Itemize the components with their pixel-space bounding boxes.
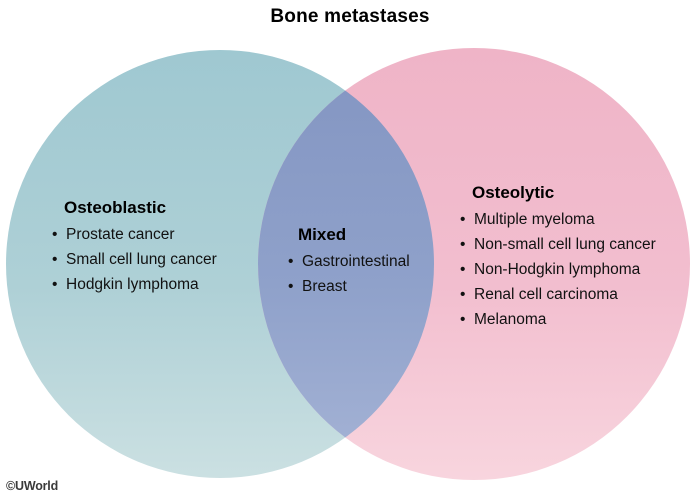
copyright-notice: ©UWorld [6, 479, 58, 493]
list-item-label: Breast [302, 278, 347, 295]
right-region-heading: Osteolytic [460, 183, 656, 203]
list-item: •Gastrointestinal [288, 249, 410, 274]
list-item-label: Hodgkin lymphoma [66, 276, 199, 293]
list-item-label: Renal cell carcinoma [474, 286, 618, 303]
bullet-icon: • [52, 272, 57, 297]
list-item: •Prostate cancer [52, 222, 217, 247]
center-region-heading: Mixed [288, 225, 410, 245]
list-item-label: Prostate cancer [66, 226, 175, 243]
list-item: •Non-Hodgkin lymphoma [460, 257, 656, 282]
bullet-icon: • [460, 282, 465, 307]
left-region-heading: Osteoblastic [52, 198, 217, 218]
bullet-icon: • [288, 274, 293, 299]
list-item-label: Melanoma [474, 311, 546, 328]
list-item: •Multiple myeloma [460, 207, 656, 232]
bullet-icon: • [288, 249, 293, 274]
bullet-icon: • [52, 222, 57, 247]
right-region-list: •Multiple myeloma •Non-small cell lung c… [460, 207, 656, 332]
list-item: •Breast [288, 274, 410, 299]
bullet-icon: • [460, 232, 465, 257]
list-item: •Small cell lung cancer [52, 247, 217, 272]
left-region-text: Osteoblastic •Prostate cancer •Small cel… [52, 198, 217, 297]
bullet-icon: • [460, 207, 465, 232]
list-item-label: Small cell lung cancer [66, 251, 217, 268]
left-region-list: •Prostate cancer •Small cell lung cancer… [52, 222, 217, 297]
list-item: •Melanoma [460, 307, 656, 332]
list-item-label: Multiple myeloma [474, 211, 595, 228]
list-item: •Renal cell carcinoma [460, 282, 656, 307]
list-item-label: Gastrointestinal [302, 253, 410, 270]
list-item-label: Non-Hodgkin lymphoma [474, 261, 640, 278]
list-item-label: Non-small cell lung cancer [474, 236, 656, 253]
bullet-icon: • [460, 257, 465, 282]
center-region-list: •Gastrointestinal •Breast [288, 249, 410, 299]
bullet-icon: • [460, 307, 465, 332]
venn-diagram-figure: Bone metastases [0, 0, 700, 499]
right-region-text: Osteolytic •Multiple myeloma •Non-small … [460, 183, 656, 332]
list-item: •Hodgkin lymphoma [52, 272, 217, 297]
list-item: •Non-small cell lung cancer [460, 232, 656, 257]
center-region-text: Mixed •Gastrointestinal •Breast [288, 225, 410, 299]
bullet-icon: • [52, 247, 57, 272]
